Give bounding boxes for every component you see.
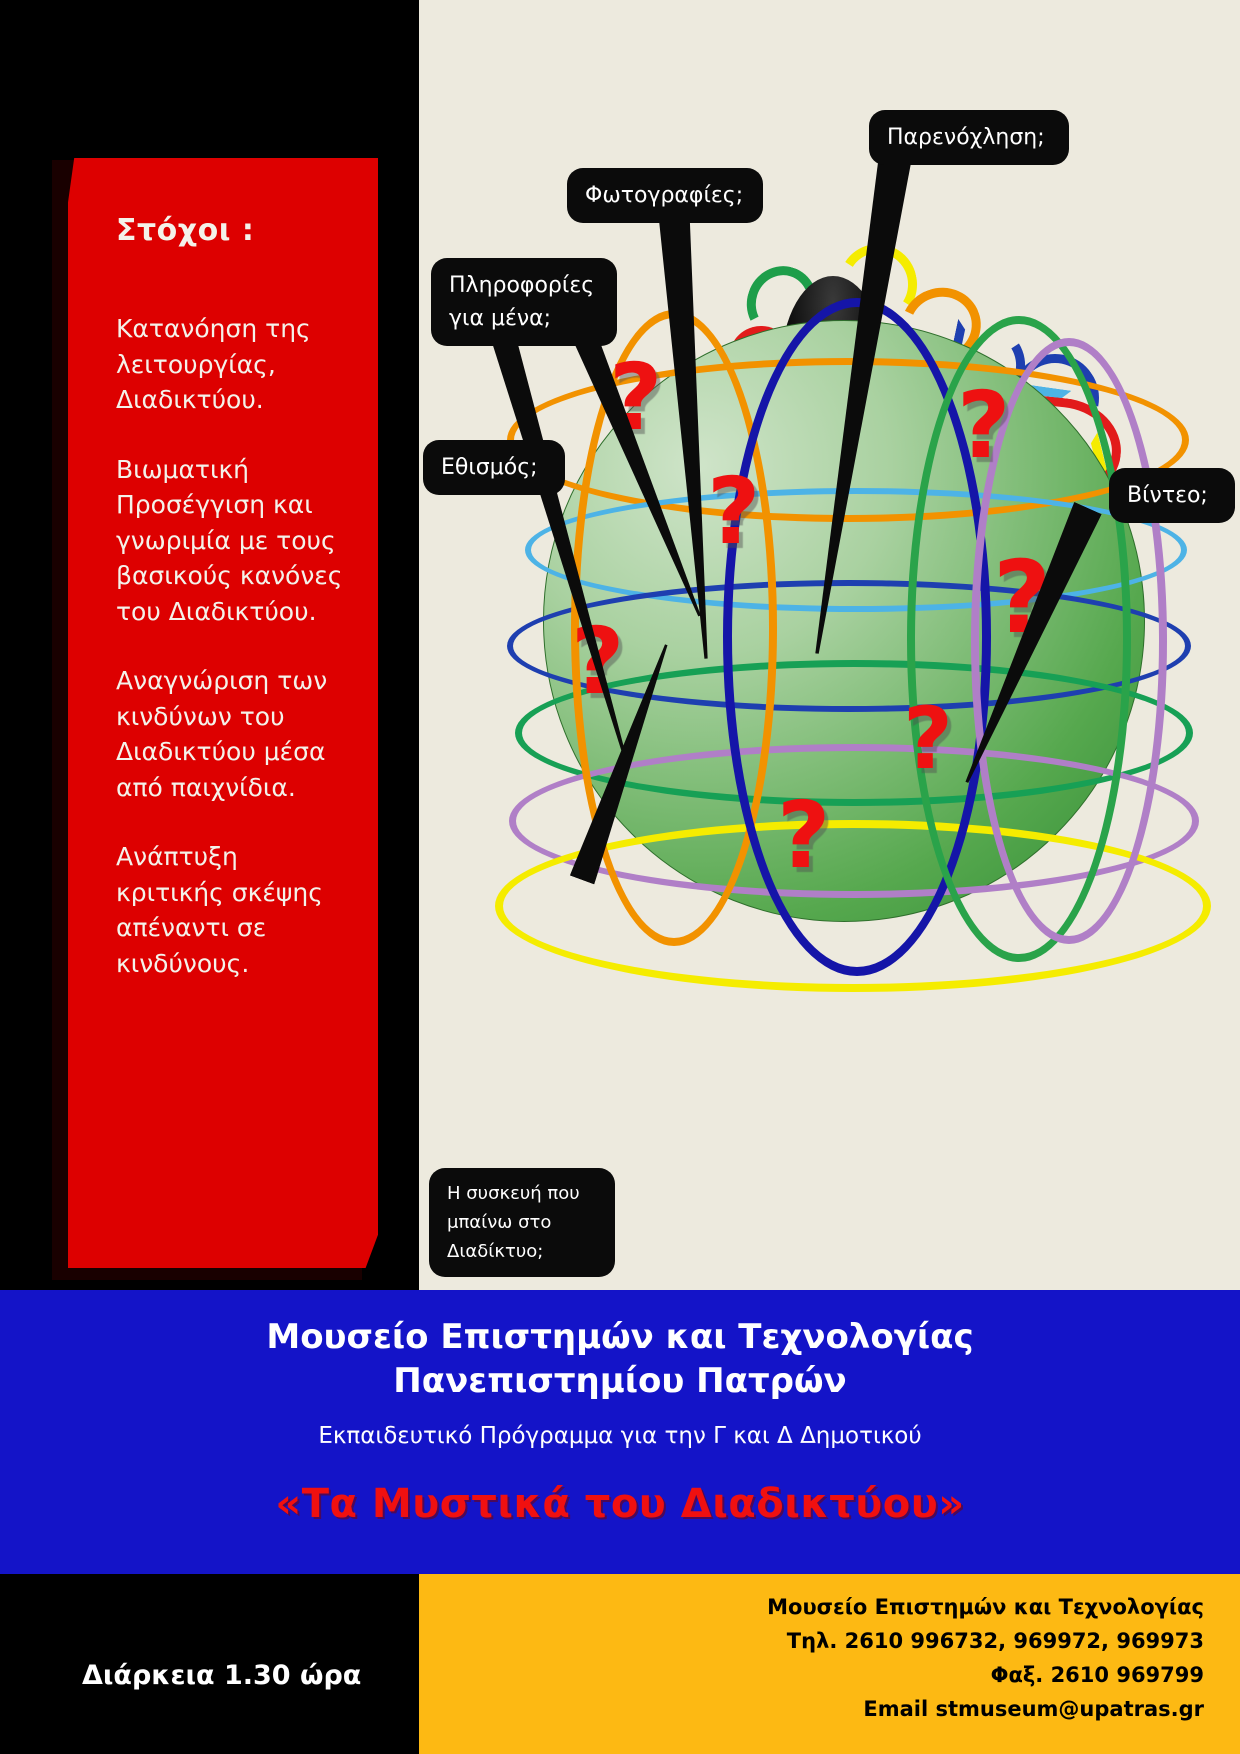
bubble-photos[interactable]: Φωτογραφίες; — [567, 168, 763, 223]
bubble-addiction[interactable]: Εθισμός; — [423, 440, 565, 495]
question-mark: ? — [777, 790, 830, 882]
objective-item: Κατανόηση της λειτουργίας, Διαδικτύου. — [116, 311, 344, 418]
bubble-device[interactable]: Η συσκευή που μπαίνω στο Διαδίκτυο; — [429, 1168, 615, 1277]
objectives-box: Στόχοι : Κατανόηση της λειτουργίας, Διαδ… — [68, 158, 378, 1268]
programme-line: Εκπαιδευτικό Πρόγραμμα για την Γ και Δ Δ… — [0, 1423, 1240, 1449]
question-mark: ? — [957, 380, 1010, 472]
objective-item: Βιωματική Προσέγγιση και γνωριμία με του… — [116, 452, 344, 630]
bubble-information[interactable]: Πληροφορίες για μένα; — [431, 258, 617, 346]
objective-item: Αναγνώριση των κινδύνων του Διαδικτύου μ… — [116, 663, 344, 805]
bubble-video[interactable]: Βίντεο; — [1109, 468, 1235, 523]
duration-panel: Διάρκεια 1.30 ώρα — [0, 1574, 419, 1754]
organisation-line-1: Μουσείο Επιστημών και Τεχνολογίας — [0, 1316, 1240, 1360]
poster-main-title: «Τα Μυστικά του Διαδικτύου» — [0, 1481, 1240, 1527]
bubble-harassment[interactable]: Παρενόχληση; — [869, 110, 1069, 165]
question-mark: ? — [707, 466, 760, 558]
duration-text: Διάρκεια 1.30 ώρα — [82, 1660, 361, 1691]
poster-root: ? ? ? ? ? ? ? Πληροφορίες για μένα; Φωτο… — [0, 0, 1240, 1754]
contact-panel: Μουσείο Επιστημών και Τεχνολογίας Τηλ. 2… — [419, 1574, 1240, 1754]
contact-line-organisation: Μουσείο Επιστημών και Τεχνολογίας — [419, 1590, 1204, 1624]
organisation-line-2: Πανεπιστημίου Πατρών — [0, 1360, 1240, 1404]
objectives-title: Στόχοι : — [116, 213, 344, 249]
contact-line-fax: Φαξ. 2610 969799 — [419, 1658, 1204, 1692]
objective-item: Ανάπτυξη κριτικής σκέψης απέναντι σε κιν… — [116, 839, 344, 981]
contact-line-email[interactable]: Email stmuseum@upatras.gr — [419, 1692, 1204, 1726]
contact-line-phone: Τηλ. 2610 996732, 969972, 969973 — [419, 1624, 1204, 1658]
question-mark: ? — [903, 696, 953, 782]
footer-band: Μουσείο Επιστημών και Τεχνολογίας Πανεπι… — [0, 1290, 1240, 1574]
artwork-panel: ? ? ? ? ? ? ? Πληροφορίες για μένα; Φωτο… — [419, 0, 1240, 1290]
